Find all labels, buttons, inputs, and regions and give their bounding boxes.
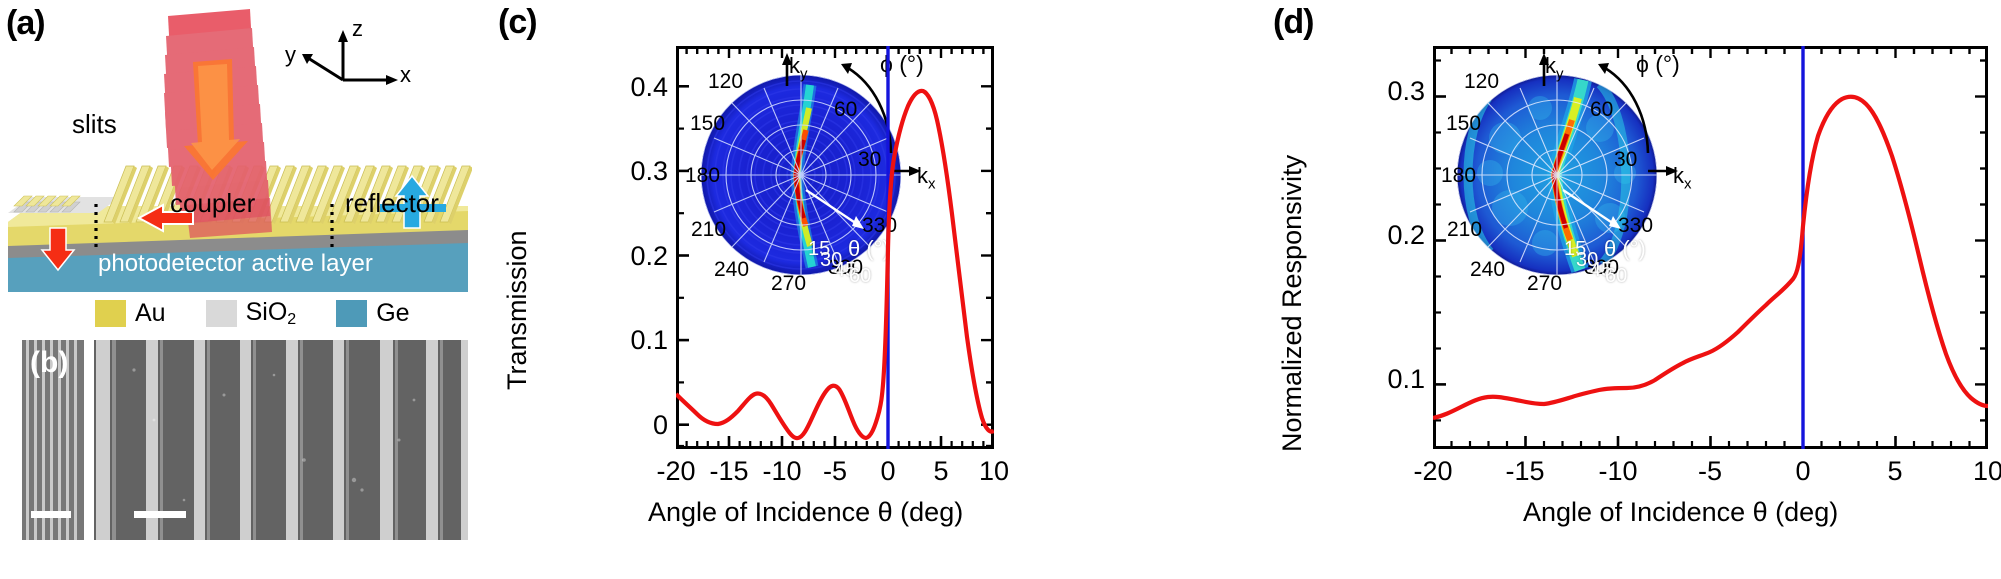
panel-c-label: (c)	[498, 3, 537, 42]
panel-c-data-curve	[676, 91, 994, 438]
panel-c-xtick-10: 10	[959, 456, 1029, 487]
panel-d-data-curve	[1433, 97, 1988, 418]
legend-label-sio2: SiO2	[246, 298, 297, 329]
panel-d-y-axis-title: Normalized Responsivity	[1277, 155, 1308, 452]
panel-c-ytick-0.3: 0.3	[598, 156, 668, 187]
legend-item-au: Au	[95, 299, 166, 328]
panel-d-xtick--15: -15	[1490, 456, 1560, 487]
legend-item-sio2: SiO2	[206, 298, 297, 329]
panel-d-xtick--10: -10	[1583, 456, 1653, 487]
panel-c-axes-and-curve	[676, 46, 994, 449]
axis-label-z: z	[352, 16, 363, 42]
panel-a: (a)	[0, 0, 472, 340]
panel-d-xtick--5: -5	[1675, 456, 1745, 487]
panel-d-xtick--20: -20	[1398, 456, 1468, 487]
axis-label-y: y	[285, 42, 296, 68]
panel-c-ytick-0.0: 0	[598, 410, 668, 441]
scale-bar-left	[31, 511, 71, 518]
legend-label-au: Au	[135, 299, 166, 328]
material-legend: Au SiO2 Ge	[95, 296, 425, 330]
panel-d: (d) Normalized Responsivity	[1245, 0, 2001, 579]
panel-d-xtick-10: 10	[1953, 456, 2001, 487]
panel-c-ytick-0.4: 0.4	[598, 72, 668, 103]
legend-swatch-ge	[336, 300, 367, 327]
panel-d-ytick-0.3: 0.3	[1355, 76, 1425, 107]
sem-image-left: (b)	[22, 340, 84, 540]
panel-d-xtick-5: 5	[1860, 456, 1930, 487]
axis-label-x: x	[400, 62, 411, 88]
device-schematic	[0, 0, 472, 340]
label-coupler: coupler	[170, 188, 255, 219]
panel-c-ytick-0.1: 0.1	[598, 325, 668, 356]
panel-d-x-axis-title: Angle of Incidence θ (deg)	[1523, 497, 1838, 528]
panel-d-label: (d)	[1273, 3, 1313, 42]
panel-d-axes-and-curve	[1433, 46, 1988, 449]
panel-d-xtick-0: 0	[1768, 456, 1838, 487]
panel-c: (c) Transmission	[480, 0, 1000, 579]
legend-item-ge: Ge	[336, 299, 409, 328]
panel-c-ytick-0.2: 0.2	[598, 241, 668, 272]
panel-d-ytick-0.2: 0.2	[1355, 220, 1425, 251]
panel-b: (b)	[22, 340, 472, 565]
scale-bar-right	[134, 511, 186, 518]
panel-b-label: (b)	[30, 346, 68, 380]
label-slits: slits	[72, 109, 117, 140]
panel-c-x-axis-title: Angle of Incidence θ (deg)	[648, 497, 963, 528]
panel-d-ytick-0.1: 0.1	[1355, 364, 1425, 395]
sem-image-right	[94, 340, 468, 540]
label-photodetector-active-layer: photodetector active layer	[98, 250, 373, 278]
legend-swatch-au	[95, 300, 126, 327]
figure-root: (a)	[0, 0, 2001, 579]
legend-swatch-sio2	[206, 300, 237, 327]
panel-c-y-axis-title: Transmission	[502, 230, 533, 390]
legend-label-ge: Ge	[376, 299, 409, 328]
label-reflector: reflector	[345, 188, 439, 219]
